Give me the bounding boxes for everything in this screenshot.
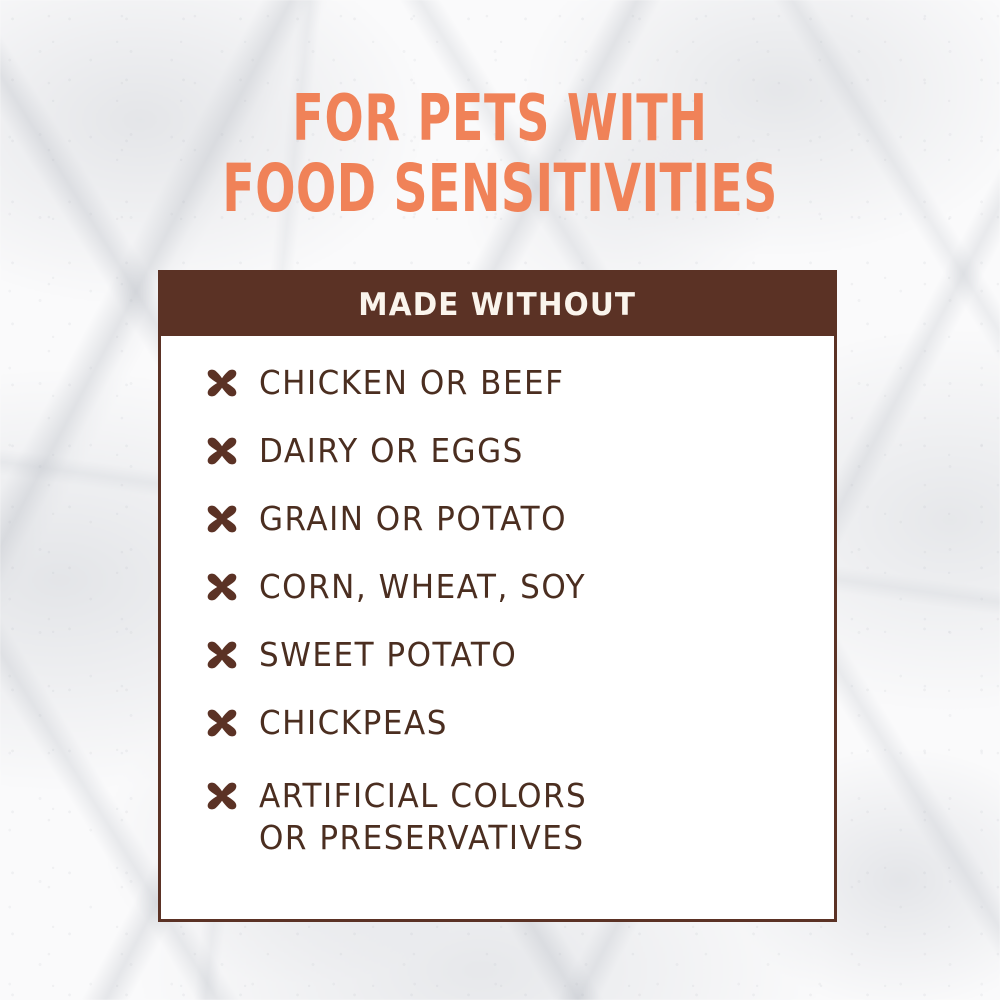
list-item: SWEET POTATO	[207, 634, 834, 702]
list-item: CHICKPEAS	[207, 702, 834, 770]
list-item: ARTIFICIAL COLORS OR PRESERVATIVES	[207, 775, 834, 859]
list-item-label: CORN, WHEAT, SOY	[259, 566, 586, 608]
exclusion-list: CHICKEN OR BEEF DAIRY OR EGGS GRAIN OR P…	[161, 336, 834, 859]
list-item-label: CHICKEN OR BEEF	[259, 362, 565, 404]
headline-line-2: FOOD SENSITIVITIES	[140, 154, 860, 224]
x-mark-icon	[207, 436, 237, 466]
card-header-title: MADE WITHOUT	[359, 287, 637, 323]
list-item-label: CHICKPEAS	[259, 702, 448, 744]
list-item-label: ARTIFICIAL COLORS OR PRESERVATIVES	[259, 775, 587, 859]
list-item: DAIRY OR EGGS	[207, 430, 834, 498]
page-title: FOR PETS WITH FOOD SENSITIVITIES	[0, 84, 1000, 224]
headline-line-1: FOR PETS WITH	[140, 84, 860, 154]
made-without-card: MADE WITHOUT CHICKEN OR BEEF DAIRY OR EG…	[158, 270, 837, 922]
x-mark-icon	[207, 640, 237, 670]
product-feature-panel: FOR PETS WITH FOOD SENSITIVITIES MADE WI…	[0, 0, 1000, 1000]
x-mark-icon	[207, 368, 237, 398]
list-item: CORN, WHEAT, SOY	[207, 566, 834, 634]
x-mark-icon	[207, 781, 237, 811]
list-item-label: GRAIN OR POTATO	[259, 498, 567, 540]
x-mark-icon	[207, 572, 237, 602]
list-item: GRAIN OR POTATO	[207, 498, 834, 566]
list-item: CHICKEN OR BEEF	[207, 362, 834, 430]
x-mark-icon	[207, 708, 237, 738]
x-mark-icon	[207, 504, 237, 534]
list-item-label: DAIRY OR EGGS	[259, 430, 524, 472]
list-item-label: SWEET POTATO	[259, 634, 517, 676]
card-header: MADE WITHOUT	[161, 273, 834, 336]
